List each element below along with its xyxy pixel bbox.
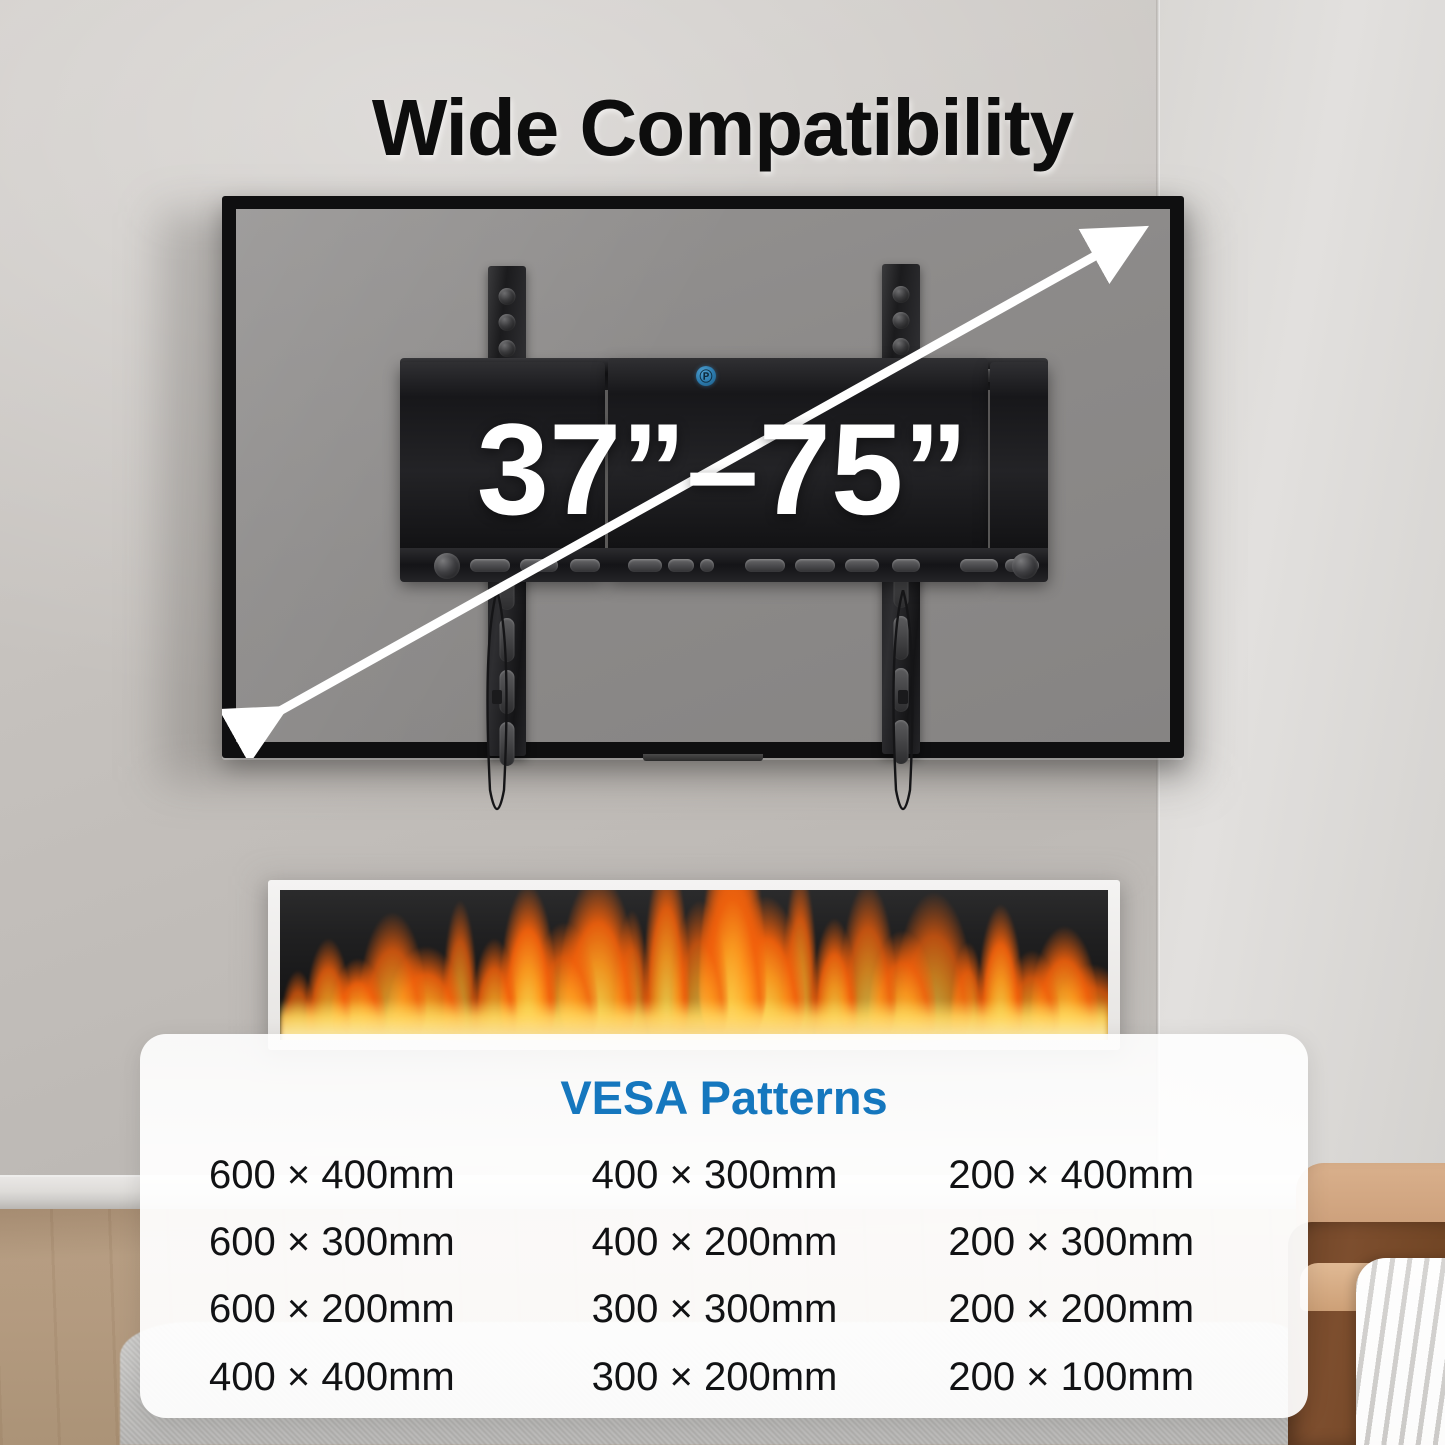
vesa-pattern-cell: 300 × 200mm xyxy=(548,1348,901,1407)
vesa-pattern-cell: 200 × 300mm xyxy=(900,1213,1253,1272)
fireplace-cavity xyxy=(280,890,1108,1040)
vesa-pattern-cell: 400 × 300mm xyxy=(548,1146,901,1205)
brand-logo-icon: Ⓟ xyxy=(696,366,716,386)
vesa-pattern-cell: 400 × 200mm xyxy=(548,1213,901,1272)
vesa-pattern-cell: 200 × 100mm xyxy=(900,1348,1253,1407)
mount-slot xyxy=(960,559,998,572)
brand-logo-glyph: Ⓟ xyxy=(699,370,712,383)
vesa-pattern-cell: 600 × 400mm xyxy=(195,1146,548,1205)
rail-adjustment-hole xyxy=(893,286,910,303)
mount-slot xyxy=(570,559,600,572)
mount-bottom-arm xyxy=(400,548,1048,582)
vesa-patterns-panel: VESA Patterns 600 × 400mm400 × 300mm200 … xyxy=(140,1034,1308,1418)
mount-slot xyxy=(892,559,920,572)
mount-slot xyxy=(845,559,879,572)
vesa-patterns-grid: 600 × 400mm400 × 300mm200 × 400mm600 × 3… xyxy=(195,1146,1253,1407)
screen-size-range-label: 37”–75” xyxy=(0,404,1445,534)
wall-right-panel xyxy=(1158,0,1445,1175)
rail-adjustment-hole xyxy=(893,338,910,355)
rail-adjustment-hole xyxy=(499,288,516,305)
rail-adjustment-hole xyxy=(499,340,516,357)
rail-adjustment-hole xyxy=(893,312,910,329)
vesa-pattern-cell: 400 × 400mm xyxy=(195,1348,548,1407)
release-strap-left xyxy=(482,590,512,830)
mount-slot xyxy=(520,559,558,572)
rail-adjustment-hole xyxy=(499,314,516,331)
vesa-pattern-cell: 600 × 300mm xyxy=(195,1213,548,1272)
vesa-pattern-cell: 300 × 300mm xyxy=(548,1280,901,1339)
release-strap-right xyxy=(888,590,918,830)
vesa-panel-title: VESA Patterns xyxy=(140,1070,1308,1125)
tilting-tv-mount: Ⓟ xyxy=(390,250,1050,850)
mount-slot xyxy=(795,559,835,572)
draped-blanket xyxy=(1356,1258,1445,1445)
mount-slot xyxy=(700,559,714,572)
vesa-pattern-cell: 600 × 200mm xyxy=(195,1280,548,1339)
mount-bolt-boss xyxy=(1012,553,1038,579)
page-title: Wide Compatibility xyxy=(0,82,1445,174)
mount-slot xyxy=(745,559,785,572)
mount-bolt-boss xyxy=(434,553,460,579)
mount-slot xyxy=(470,559,510,572)
mount-slot xyxy=(628,559,662,572)
vesa-pattern-cell: 200 × 400mm xyxy=(900,1146,1253,1205)
vesa-pattern-cell: 200 × 200mm xyxy=(900,1280,1253,1339)
mount-slot xyxy=(668,559,694,572)
